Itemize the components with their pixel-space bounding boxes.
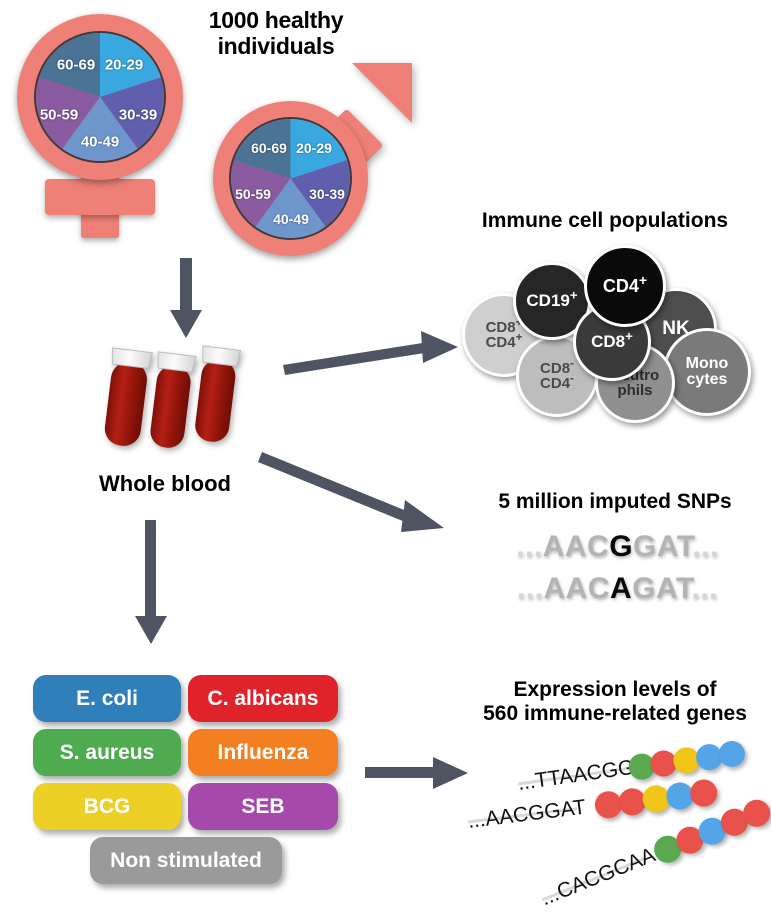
arrow-cohort-to-blood (168, 258, 208, 340)
stimulus-e-coli-label: E. coli (76, 687, 138, 711)
snp1-pre: AAC (543, 530, 610, 563)
pie-label-20-29: 20-29 (105, 57, 143, 74)
neutrophils-line2: phils (617, 383, 652, 398)
plus-sign-icon: + (625, 329, 633, 344)
cd8pos-cd4pos-line2: CD4 (486, 334, 516, 351)
female-symbol-crossbar (45, 179, 155, 215)
immune-heading: Immune cell populations (455, 209, 755, 233)
gene-bead (717, 739, 746, 768)
snp2-suffix: ... (691, 572, 718, 605)
immune-cell-monocytes[interactable]: Mono cytes (663, 328, 751, 416)
snp-sequence-row-1: ...AACGGAT... (480, 530, 755, 564)
stimulus-non-stimulated[interactable]: Non stimulated (90, 837, 282, 884)
minus-sign-icon: - (570, 357, 574, 370)
stimulus-c-albicans[interactable]: C. albicans (188, 675, 338, 722)
stimulus-s-aureus[interactable]: S. aureus (33, 729, 181, 776)
snp-sequence-row-2: ...AACAGAT... (480, 572, 755, 606)
gene-strand-2-sequence: ...AACGGAT (467, 796, 588, 834)
genes-heading-line1: Expression levels of (460, 678, 770, 702)
pie-label-60-69: 60-69 (57, 57, 95, 74)
snp1-highlight: G (609, 530, 633, 563)
stimulus-e-coli[interactable]: E. coli (33, 675, 181, 722)
stimulus-bcg-label: BCG (84, 795, 131, 819)
gene-strands: ...TTAACGG ...AACGGAT ...CACGCAA (450, 740, 770, 915)
snp1-suffix: ... (692, 530, 719, 563)
pie-label-30-39: 30-39 (119, 107, 157, 124)
cohort-heading: 1000 healthy individuals (178, 8, 374, 60)
immune-cell-cd4pos[interactable]: CD4+ (584, 245, 666, 327)
stimulus-influenza[interactable]: Influenza (188, 729, 338, 776)
snp1-prefix: ... (516, 530, 543, 563)
arrow-blood-to-immune (283, 325, 463, 375)
snp-sequences: ...AACGGAT... ...AACAGAT... (480, 530, 755, 620)
genes-heading: Expression levels of 560 immune-related … (460, 678, 770, 725)
male-gender-symbol: 20-29 30-39 40-49 50-59 60-69 (205, 65, 420, 260)
stimulus-seb[interactable]: SEB (188, 783, 338, 830)
gene-strand-3-sequence: ...CACGCAA (538, 843, 660, 911)
snp-heading: 5 million imputed SNPs (470, 490, 760, 514)
plus-sign-icon: + (639, 272, 647, 288)
gene-bead (689, 778, 719, 808)
cd8neg-cd4neg-line2: CD4 (540, 375, 570, 392)
stimulus-s-aureus-label: S. aureus (60, 741, 155, 765)
whole-blood-label: Whole blood (75, 472, 255, 497)
arrow-blood-to-snp (262, 450, 462, 542)
monocytes-line1: Mono (686, 356, 729, 372)
genes-heading-line2: 560 immune-related genes (460, 702, 770, 726)
stimulus-seb-label: SEB (241, 795, 284, 819)
pie-label-60-69-male: 60-69 (251, 140, 287, 156)
plus-sign-icon: + (570, 288, 578, 303)
stimulus-influenza-label: Influenza (217, 741, 308, 765)
pie-label-40-49-male: 40-49 (273, 211, 309, 227)
cohort-heading-line1: 1000 healthy (178, 8, 374, 34)
snp2-prefix: ... (517, 572, 544, 605)
pie-label-30-39-male: 30-39 (309, 186, 345, 202)
pie-label-40-49: 40-49 (81, 134, 119, 151)
stimulus-non-stimulated-label: Non stimulated (110, 849, 262, 873)
minus-sign-icon: - (570, 372, 574, 385)
snp1-post: GAT (633, 530, 692, 563)
immune-cell-cluster: CD8+ CD4+ CD8- CD4- NK Mono cytes Neutro… (455, 240, 760, 420)
stimuli-panel: E. coli C. albicans S. aureus Influenza … (33, 675, 343, 895)
stimulus-c-albicans-label: C. albicans (208, 687, 319, 711)
snp2-highlight: A (610, 572, 632, 605)
cd19pos-label: CD19 (526, 291, 569, 310)
pie-label-20-29-male: 20-29 (296, 140, 332, 156)
snp2-post: GAT (632, 572, 691, 605)
arrow-blood-to-stimuli (132, 520, 172, 645)
stimulus-bcg[interactable]: BCG (33, 783, 181, 830)
monocytes-line2: cytes (687, 372, 728, 388)
pie-label-50-59: 50-59 (40, 107, 78, 124)
whole-blood-tubes (95, 330, 265, 465)
cd8pos-label: CD8 (591, 332, 625, 351)
pie-label-50-59-male: 50-59 (235, 186, 271, 202)
female-gender-symbol: 20-29 30-39 40-49 50-59 60-69 (8, 12, 203, 242)
plus-sign-icon: + (516, 331, 523, 344)
snp2-pre: AAC (544, 572, 611, 605)
cohort-heading-line2: individuals (178, 34, 374, 60)
cd4pos-label: CD4 (603, 276, 639, 296)
